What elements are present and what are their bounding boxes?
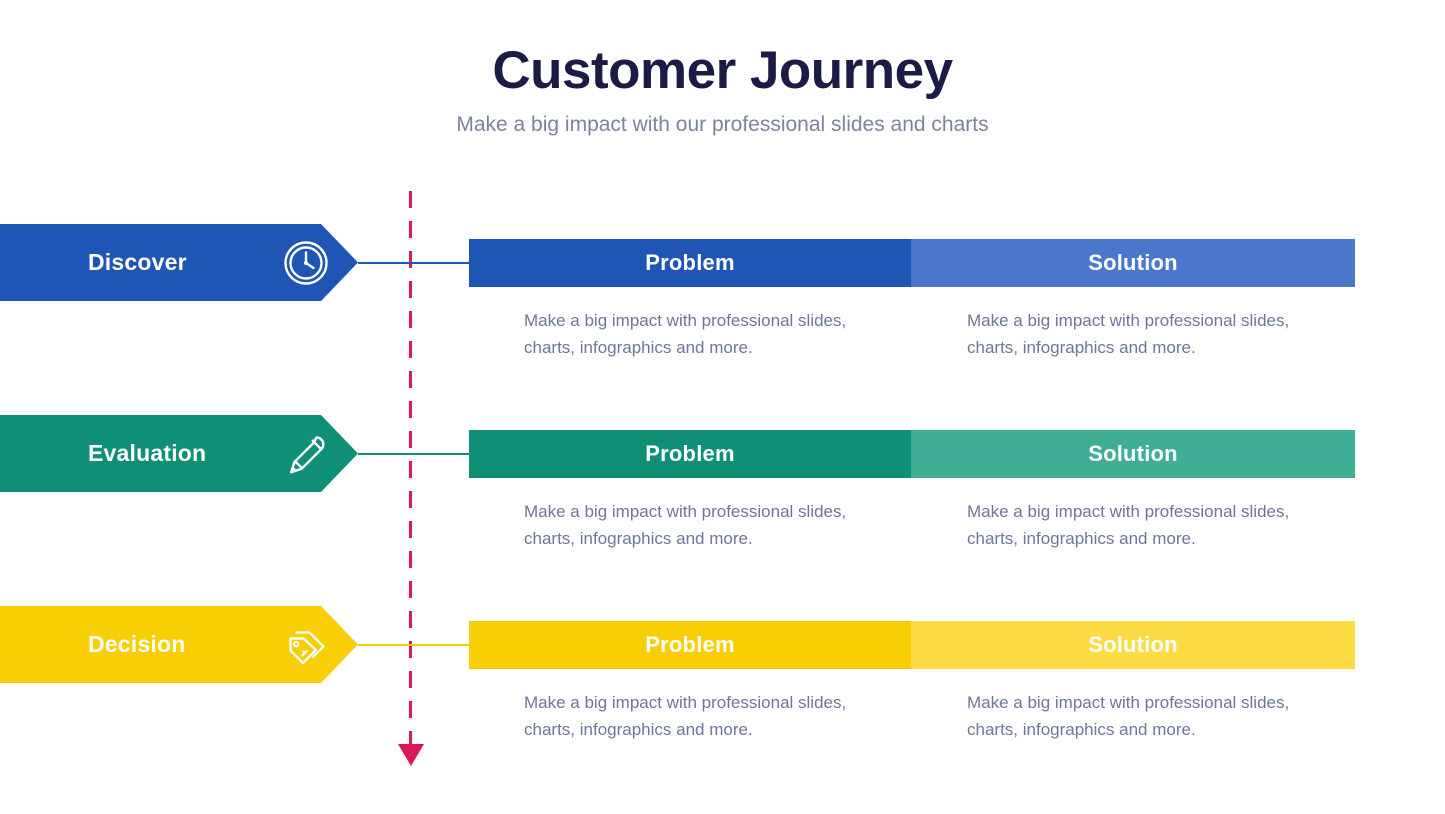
timeline-down-arrow-icon [398, 744, 424, 766]
description-solution-evaluation: Make a big impact with professional slid… [967, 498, 1297, 552]
header: Customer Journey Make a big impact with … [0, 44, 1445, 136]
stage-chevron-decision[interactable]: Decision [0, 606, 358, 683]
connector-line-decision [358, 644, 472, 646]
connector-line-evaluation [358, 453, 472, 455]
price-tags-icon [283, 622, 329, 668]
page-subtitle: Make a big impact with our professional … [0, 97, 1445, 136]
description-problem-discover: Make a big impact with professional slid… [524, 307, 854, 361]
description-solution-discover: Make a big impact with professional slid… [967, 307, 1297, 361]
bars-decision: Problem Solution [469, 621, 1355, 669]
stage-chevron-discover[interactable]: Discover [0, 224, 358, 301]
stage-label-discover: Discover [88, 249, 187, 276]
pencil-icon [283, 431, 329, 477]
bar-solution-label: Solution [1088, 250, 1178, 276]
bar-solution-decision[interactable]: Solution [911, 621, 1355, 669]
stage-chevron-evaluation[interactable]: Evaluation [0, 415, 358, 492]
bar-problem-discover[interactable]: Problem [469, 239, 911, 287]
bar-problem-label: Problem [645, 441, 734, 467]
page-title: Customer Journey [0, 44, 1445, 97]
bar-solution-label: Solution [1088, 632, 1178, 658]
connector-line-discover [358, 262, 472, 264]
stage-label-decision: Decision [88, 631, 185, 658]
description-solution-decision: Make a big impact with professional slid… [967, 689, 1297, 743]
bar-problem-evaluation[interactable]: Problem [469, 430, 911, 478]
clock-icon [283, 240, 329, 286]
bar-solution-label: Solution [1088, 441, 1178, 467]
bar-solution-discover[interactable]: Solution [911, 239, 1355, 287]
bars-discover: Problem Solution [469, 239, 1355, 287]
bar-problem-label: Problem [645, 632, 734, 658]
bars-evaluation: Problem Solution [469, 430, 1355, 478]
bar-problem-label: Problem [645, 250, 734, 276]
timeline-dashed-spine [409, 191, 412, 750]
stage-label-evaluation: Evaluation [88, 440, 206, 467]
bar-problem-decision[interactable]: Problem [469, 621, 911, 669]
bar-solution-evaluation[interactable]: Solution [911, 430, 1355, 478]
description-problem-evaluation: Make a big impact with professional slid… [524, 498, 854, 552]
description-problem-decision: Make a big impact with professional slid… [524, 689, 854, 743]
